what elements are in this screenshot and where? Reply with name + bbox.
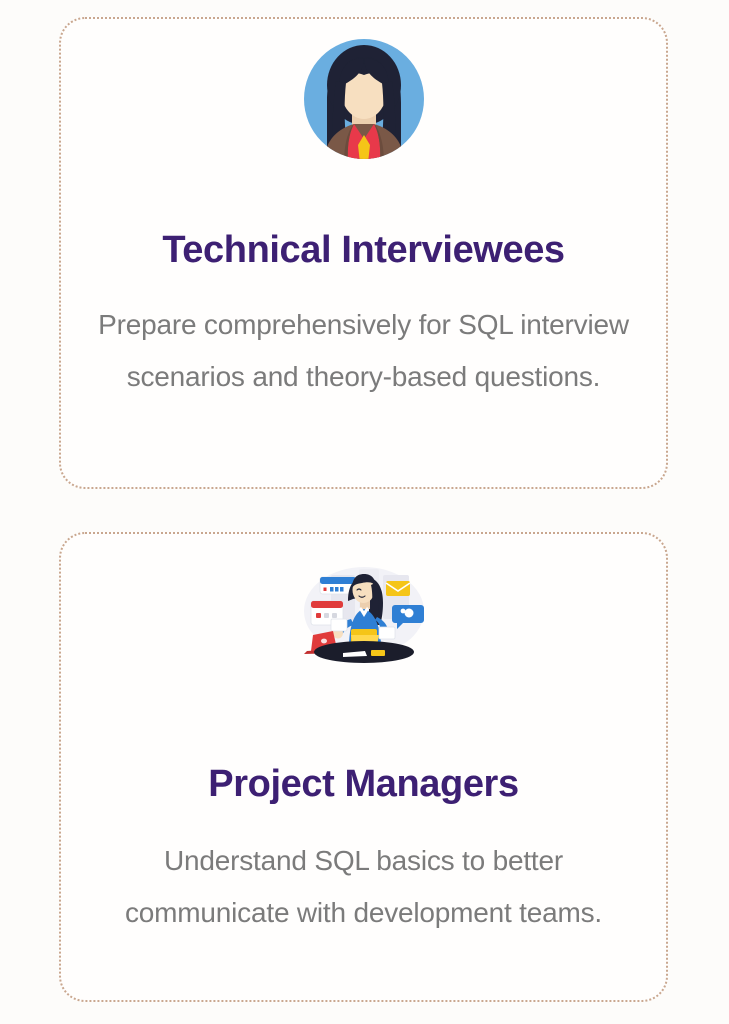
card-title: Technical Interviewees	[162, 230, 564, 272]
audience-card-technical-interviewees[interactable]: Technical Interviewees Prepare comprehen…	[59, 17, 668, 489]
card-description: Prepare comprehensively for SQL intervie…	[79, 299, 649, 403]
card-description: Understand SQL basics to better communic…	[114, 835, 614, 939]
card-title: Project Managers	[208, 764, 518, 806]
audience-cards-page: Technical Interviewees Prepare comprehen…	[0, 0, 729, 1024]
female-professional-avatar-icon	[300, 35, 428, 163]
audience-card-project-managers[interactable]: Project Managers Understand SQL basics t…	[59, 532, 668, 1002]
project-manager-workspace-illustration-icon	[291, 565, 437, 667]
